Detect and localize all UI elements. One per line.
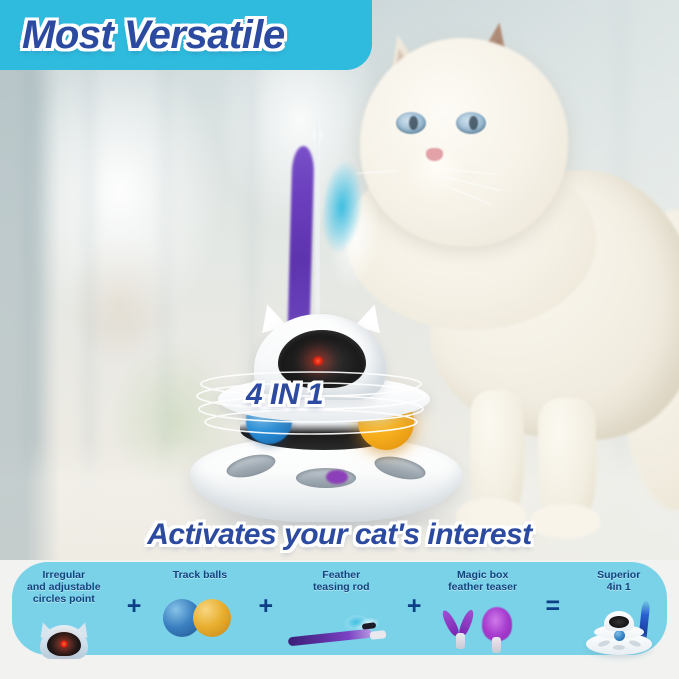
magic-box-feathers-icon [440, 607, 526, 657]
feature-item-track-balls[interactable]: Track balls [152, 562, 247, 655]
feature-item-magic-box[interactable]: Magic box feather teaser [430, 562, 535, 655]
feature-label-laser: Irregular and adjustable circles point [27, 569, 101, 605]
operator-plus-1: + [116, 562, 153, 655]
tagline-text: Activates your cat's interest [0, 518, 679, 552]
feature-item-feather-rod[interactable]: Feather teasing rod [284, 562, 398, 655]
feature-label-track-balls: Track balls [173, 569, 227, 581]
operator-plus-3: + [398, 562, 430, 655]
feature-label-magic-box: Magic box feather teaser [448, 569, 517, 593]
feather-cyan [313, 157, 390, 313]
product-mini-icon [584, 605, 654, 657]
banner-title: Most Versatile [22, 13, 285, 58]
laser-dot [312, 356, 324, 366]
operator-equals: = [535, 562, 570, 655]
promo-image: Most Versatile 4 IN 1 Activates your cat… [0, 0, 679, 679]
feature-item-laser[interactable]: Irregular and adjustable circles point [12, 562, 116, 655]
feather-purple [288, 146, 315, 337]
feature-strip: Irregular and adjustable circles point +… [12, 562, 667, 655]
laser-module-icon [36, 621, 92, 661]
operator-plus-2: + [247, 562, 284, 655]
slot-feather-insert [326, 470, 348, 484]
four-in-one-badge: 4 IN 1 [246, 378, 323, 412]
cat-toy-product [178, 118, 478, 518]
feather-wand-icon [286, 607, 396, 653]
feature-label-superior: Superior 4in 1 [597, 569, 640, 593]
header-banner: Most Versatile [0, 0, 372, 70]
track-balls-icon [163, 597, 237, 639]
feature-item-superior[interactable]: Superior 4in 1 [570, 562, 667, 655]
feature-label-feather-rod: Feather teasing rod [313, 569, 370, 593]
